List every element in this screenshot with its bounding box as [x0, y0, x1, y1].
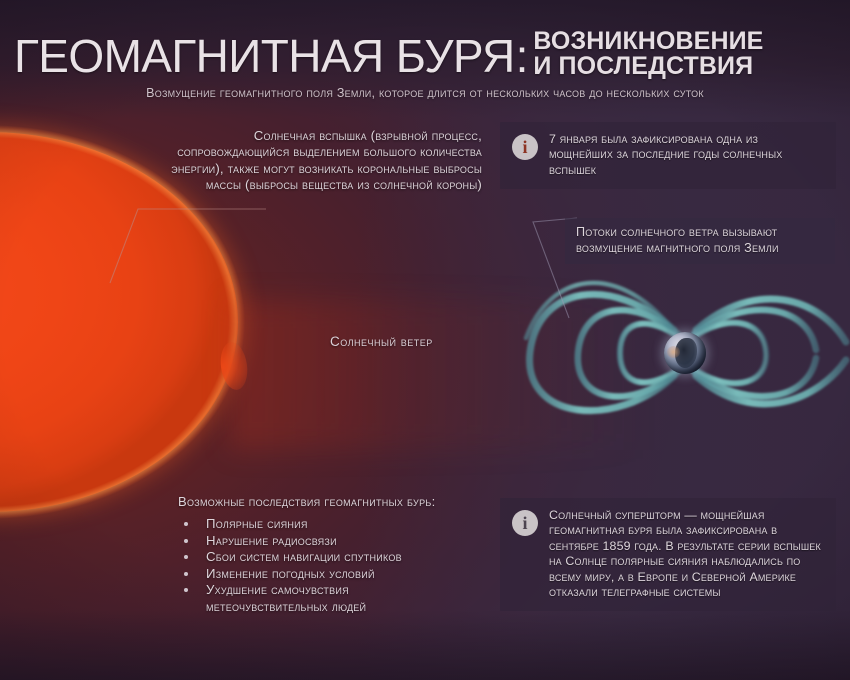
info-box-flare: i 7 января была зафиксирована одна из мо… — [500, 122, 836, 189]
solar-wind-label: Солнечный ветер — [330, 334, 433, 349]
info-box-flare-text: 7 января была зафиксирована одна из мощн… — [549, 132, 824, 178]
list-item: Нарушение радиосвязи — [178, 533, 508, 550]
consequences-list: Полярные сияния Нарушение радиосвязи Сбо… — [178, 516, 508, 616]
list-item: Ухудшение самочувствия метеочувствительн… — [178, 582, 508, 615]
magnetosphere-field-lines — [520, 238, 850, 468]
list-item-label: Изменение погодных условий — [206, 566, 375, 581]
page-subtitle: Возмущение геомагнитного поля Земли, кот… — [0, 86, 850, 100]
list-item-label: Сбои систем навигации спутников — [206, 549, 402, 564]
list-item-label: Нарушение радиосвязи — [206, 533, 337, 548]
info-box-superstorm-text: Солнечный супершторм — мощнейшая геомагн… — [549, 508, 824, 600]
title-main-text: ГЕОМАГНИТНАЯ БУРЯ — [14, 32, 515, 80]
list-item-label: Полярные сияния — [206, 516, 308, 531]
bullet-icon — [184, 572, 188, 576]
title-line-2: И ПОСЛЕДСТВИЯ — [533, 54, 763, 79]
infographic-poster: ГЕОМАГНИТНАЯ БУРЯ : ВОЗНИКНОВЕНИЕ И ПОСЛ… — [0, 0, 850, 680]
bullet-icon — [184, 588, 188, 592]
consequences-block: Возможные последствия геомагнитных бурь:… — [178, 494, 508, 616]
title-line-1: ВОЗНИКНОВЕНИЕ — [533, 29, 763, 54]
list-item: Сбои систем навигации спутников — [178, 549, 508, 566]
title-secondary: ВОЗНИКНОВЕНИЕ И ПОСЛЕДСТВИЯ — [533, 29, 763, 79]
page-title: ГЕОМАГНИТНАЯ БУРЯ : ВОЗНИКНОВЕНИЕ И ПОСЛ… — [14, 15, 836, 80]
info-icon: i — [512, 510, 538, 536]
solar-flare-caption: Солнечная вспышка (взрывной процесс, соп… — [152, 128, 482, 194]
wind-callout: Потоки солнечного ветра вызывают возмуще… — [565, 218, 835, 264]
consequences-title: Возможные последствия геомагнитных бурь: — [178, 494, 508, 509]
list-item: Изменение погодных условий — [178, 566, 508, 583]
bullet-icon — [184, 539, 188, 543]
info-box-superstorm: i Солнечный супершторм — мощнейшая геома… — [500, 498, 836, 611]
info-icon: i — [512, 134, 538, 160]
list-item-label-second-line: метеочувствительных людей — [206, 599, 508, 616]
bullet-icon — [184, 555, 188, 559]
title-colon: : — [516, 32, 529, 80]
earth-globe — [664, 332, 706, 374]
bullet-icon — [184, 522, 188, 526]
list-item-label: Ухудшение самочувствия — [206, 582, 349, 597]
list-item: Полярные сияния — [178, 516, 508, 533]
